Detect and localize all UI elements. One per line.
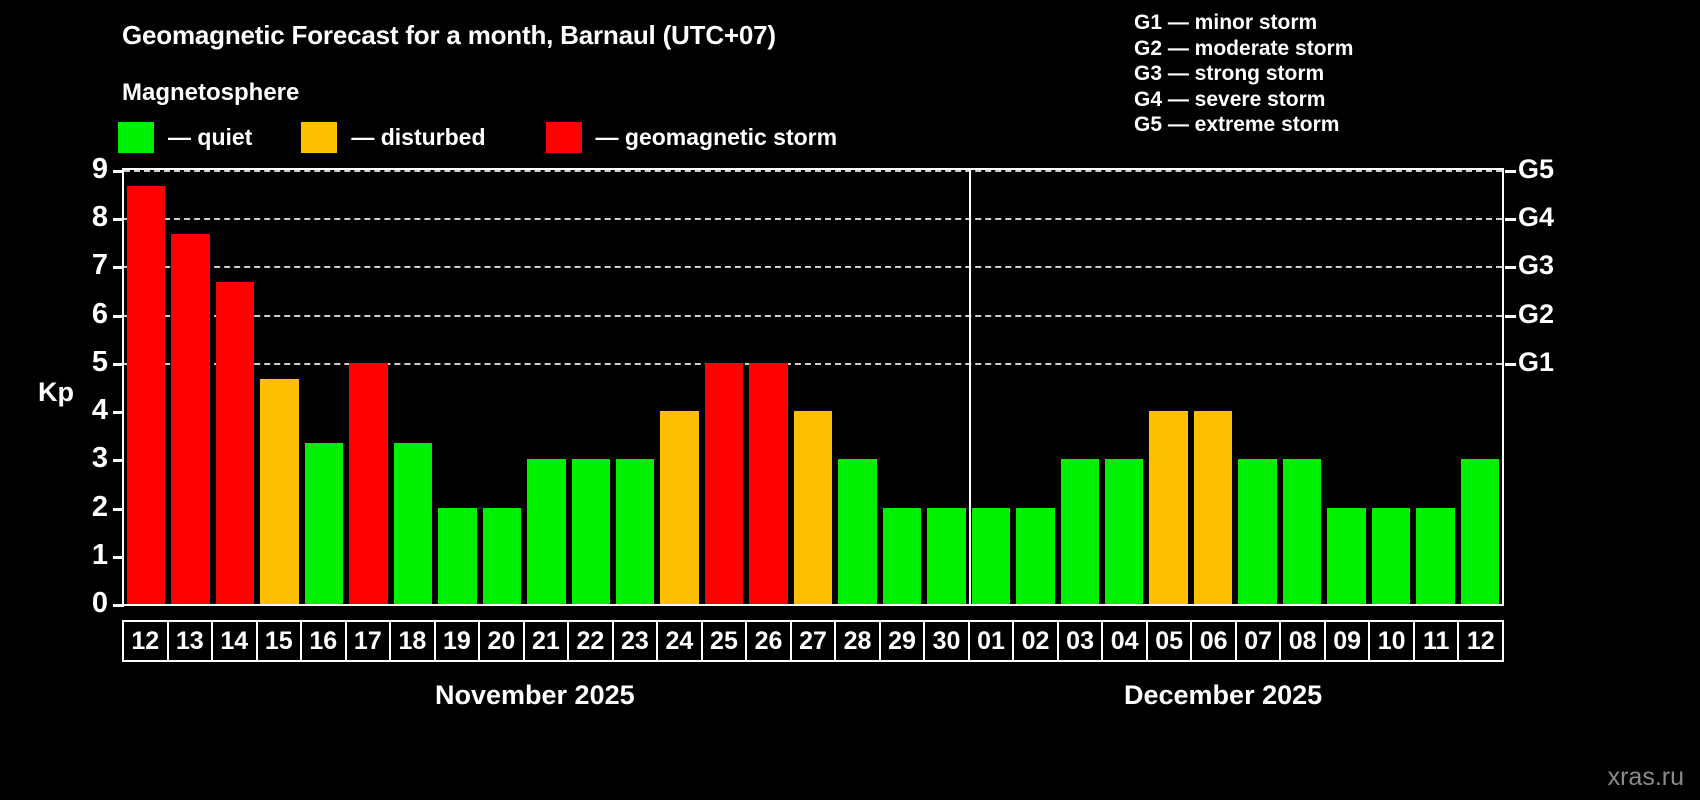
bar[interactable] bbox=[527, 459, 565, 604]
chart-plot-area bbox=[122, 168, 1504, 606]
bar[interactable] bbox=[1327, 508, 1365, 604]
legend-item-geomagnetic-storm: — geomagnetic storm bbox=[546, 122, 838, 153]
bar[interactable] bbox=[1416, 508, 1454, 604]
bar-slot[interactable] bbox=[702, 170, 746, 604]
bar-slot[interactable] bbox=[1280, 170, 1324, 604]
g-tick-mark bbox=[1505, 315, 1516, 318]
bar-slot[interactable] bbox=[1058, 170, 1102, 604]
y-tick-label: 3 bbox=[68, 444, 108, 473]
g-legend-row: G2 — moderate storm bbox=[1134, 36, 1353, 62]
y-tick-label: 1 bbox=[68, 541, 108, 570]
y-tick-label: 0 bbox=[68, 589, 108, 618]
bar-slot[interactable] bbox=[391, 170, 435, 604]
bar-slot[interactable] bbox=[746, 170, 790, 604]
bar[interactable] bbox=[260, 379, 298, 604]
day-label[interactable]: 30 bbox=[923, 620, 970, 662]
g-tick-label: G2 bbox=[1518, 301, 1554, 328]
legend-swatch-geomagnetic-storm bbox=[546, 122, 582, 153]
month-caption: December 2025 bbox=[1124, 680, 1322, 711]
day-label[interactable]: 21 bbox=[523, 620, 570, 662]
g-legend-row: G3 — strong storm bbox=[1134, 61, 1353, 87]
section-label: Magnetosphere bbox=[122, 79, 299, 107]
g-tick-label: G3 bbox=[1518, 252, 1554, 279]
day-label[interactable]: 02 bbox=[1012, 620, 1059, 662]
day-axis: 1213141516171819202122232425262728293001… bbox=[122, 620, 1504, 662]
bar-slot[interactable] bbox=[1369, 170, 1413, 604]
bar[interactable] bbox=[660, 411, 698, 604]
bar-slot[interactable] bbox=[1191, 170, 1235, 604]
bar-slot[interactable] bbox=[124, 170, 168, 604]
legend-swatch-quiet bbox=[118, 122, 154, 153]
bar[interactable] bbox=[749, 363, 787, 604]
bar-slot[interactable] bbox=[1413, 170, 1457, 604]
g-legend-row: G1 — minor storm bbox=[1134, 10, 1353, 36]
day-label[interactable]: 25 bbox=[701, 620, 748, 662]
bar[interactable] bbox=[883, 508, 921, 604]
day-label[interactable]: 13 bbox=[167, 620, 214, 662]
bar-slot[interactable] bbox=[1146, 170, 1190, 604]
day-label[interactable]: 28 bbox=[834, 620, 881, 662]
legend-label-geomagnetic-storm: — geomagnetic storm bbox=[596, 124, 838, 151]
day-label[interactable]: 23 bbox=[612, 620, 659, 662]
bar-slot[interactable] bbox=[924, 170, 968, 604]
bar[interactable] bbox=[705, 363, 743, 604]
bar-series bbox=[124, 170, 1502, 604]
day-label[interactable]: 03 bbox=[1057, 620, 1104, 662]
bar[interactable] bbox=[438, 508, 476, 604]
bar[interactable] bbox=[1238, 459, 1276, 604]
day-label[interactable]: 10 bbox=[1368, 620, 1415, 662]
day-label[interactable]: 26 bbox=[745, 620, 792, 662]
bar[interactable] bbox=[838, 459, 876, 604]
legend-label-quiet: — quiet bbox=[168, 124, 252, 151]
bar-slot[interactable] bbox=[213, 170, 257, 604]
bar[interactable] bbox=[349, 363, 387, 604]
bar-slot[interactable] bbox=[835, 170, 879, 604]
day-label[interactable]: 04 bbox=[1101, 620, 1148, 662]
bar-slot[interactable] bbox=[524, 170, 568, 604]
y-tick-label: 9 bbox=[68, 155, 108, 184]
bar-slot[interactable] bbox=[1324, 170, 1368, 604]
day-label[interactable]: 19 bbox=[434, 620, 481, 662]
bar[interactable] bbox=[1283, 459, 1321, 604]
g-tick-label: G4 bbox=[1518, 204, 1554, 231]
bar[interactable] bbox=[216, 282, 254, 604]
day-label[interactable]: 27 bbox=[790, 620, 837, 662]
bar[interactable] bbox=[972, 508, 1010, 604]
bar[interactable] bbox=[1061, 459, 1099, 604]
bar-slot[interactable] bbox=[1013, 170, 1057, 604]
y-tick-mark bbox=[113, 218, 124, 221]
bar[interactable] bbox=[1149, 411, 1187, 604]
y-tick-mark bbox=[113, 556, 124, 559]
day-label[interactable]: 07 bbox=[1235, 620, 1282, 662]
day-label[interactable]: 20 bbox=[478, 620, 525, 662]
bar[interactable] bbox=[1461, 459, 1499, 604]
bar[interactable] bbox=[127, 186, 165, 604]
bar-slot[interactable] bbox=[569, 170, 613, 604]
g-scale-legend: G1 — minor storm G2 — moderate storm G3 … bbox=[1134, 10, 1353, 138]
bar-slot[interactable] bbox=[657, 170, 701, 604]
bar-slot[interactable] bbox=[1235, 170, 1279, 604]
g-legend-row: G5 — extreme storm bbox=[1134, 112, 1353, 138]
day-label[interactable]: 18 bbox=[389, 620, 436, 662]
bar[interactable] bbox=[1194, 411, 1232, 604]
g-tick-label: G1 bbox=[1518, 349, 1554, 376]
y-tick-mark bbox=[113, 363, 124, 366]
bar[interactable] bbox=[1016, 508, 1054, 604]
day-label[interactable]: 09 bbox=[1324, 620, 1371, 662]
day-label[interactable]: 06 bbox=[1190, 620, 1237, 662]
bar-slot[interactable] bbox=[1102, 170, 1146, 604]
y-tick-label: 8 bbox=[68, 203, 108, 232]
page-title: Geomagnetic Forecast for a month, Barnau… bbox=[122, 20, 776, 51]
bar[interactable] bbox=[927, 508, 965, 604]
day-label[interactable]: 14 bbox=[211, 620, 258, 662]
bar[interactable] bbox=[305, 443, 343, 604]
bar-slot[interactable] bbox=[346, 170, 390, 604]
g-tick-label: G5 bbox=[1518, 156, 1554, 183]
day-label[interactable]: 05 bbox=[1146, 620, 1193, 662]
y-tick-label: 6 bbox=[68, 300, 108, 329]
color-legend: — quiet — disturbed — geomagnetic storm bbox=[118, 122, 837, 153]
legend-label-disturbed: — disturbed bbox=[351, 124, 485, 151]
y-tick-mark bbox=[113, 459, 124, 462]
watermark: xras.ru bbox=[1608, 763, 1684, 792]
bar-slot[interactable] bbox=[480, 170, 524, 604]
month-divider bbox=[969, 170, 971, 604]
bar[interactable] bbox=[483, 508, 521, 604]
day-label[interactable]: 08 bbox=[1279, 620, 1326, 662]
y-tick-label: 5 bbox=[68, 348, 108, 377]
day-label[interactable]: 11 bbox=[1413, 620, 1460, 662]
bar[interactable] bbox=[572, 459, 610, 604]
bar-slot[interactable] bbox=[969, 170, 1013, 604]
month-caption: November 2025 bbox=[435, 680, 635, 711]
y-tick-mark bbox=[113, 604, 124, 607]
y-tick-mark bbox=[113, 170, 124, 173]
bar[interactable] bbox=[794, 411, 832, 604]
y-tick-label: 7 bbox=[68, 251, 108, 280]
y-tick-mark bbox=[113, 315, 124, 318]
bar-slot[interactable] bbox=[613, 170, 657, 604]
g-tick-mark bbox=[1505, 218, 1516, 221]
bar-slot[interactable] bbox=[1458, 170, 1502, 604]
y-tick-mark bbox=[113, 411, 124, 414]
day-label[interactable]: 22 bbox=[567, 620, 614, 662]
g-legend-row: G4 — severe storm bbox=[1134, 87, 1353, 113]
day-label[interactable]: 12 bbox=[1457, 620, 1504, 662]
y-tick-mark bbox=[113, 266, 124, 269]
bar[interactable] bbox=[1105, 459, 1143, 604]
legend-item-disturbed: — disturbed bbox=[301, 122, 485, 153]
bar-slot[interactable] bbox=[257, 170, 301, 604]
day-label[interactable]: 01 bbox=[968, 620, 1015, 662]
g-tick-mark bbox=[1505, 363, 1516, 366]
bar[interactable] bbox=[616, 459, 654, 604]
day-label[interactable]: 24 bbox=[656, 620, 703, 662]
y-tick-label: 4 bbox=[68, 396, 108, 425]
bar[interactable] bbox=[394, 443, 432, 604]
day-label[interactable]: 29 bbox=[879, 620, 926, 662]
g-tick-mark bbox=[1505, 170, 1516, 173]
day-label[interactable]: 12 bbox=[122, 620, 169, 662]
g-tick-mark bbox=[1505, 266, 1516, 269]
legend-item-quiet: — quiet bbox=[118, 122, 252, 153]
day-label[interactable]: 17 bbox=[345, 620, 392, 662]
bar-slot[interactable] bbox=[168, 170, 212, 604]
bar-slot[interactable] bbox=[880, 170, 924, 604]
legend-swatch-disturbed bbox=[301, 122, 337, 153]
day-label[interactable]: 15 bbox=[256, 620, 303, 662]
day-label[interactable]: 16 bbox=[300, 620, 347, 662]
bar[interactable] bbox=[1372, 508, 1410, 604]
bar-slot[interactable] bbox=[302, 170, 346, 604]
bar-slot[interactable] bbox=[791, 170, 835, 604]
y-tick-mark bbox=[113, 508, 124, 511]
bar-slot[interactable] bbox=[435, 170, 479, 604]
y-tick-label: 2 bbox=[68, 493, 108, 522]
bar[interactable] bbox=[171, 234, 209, 604]
